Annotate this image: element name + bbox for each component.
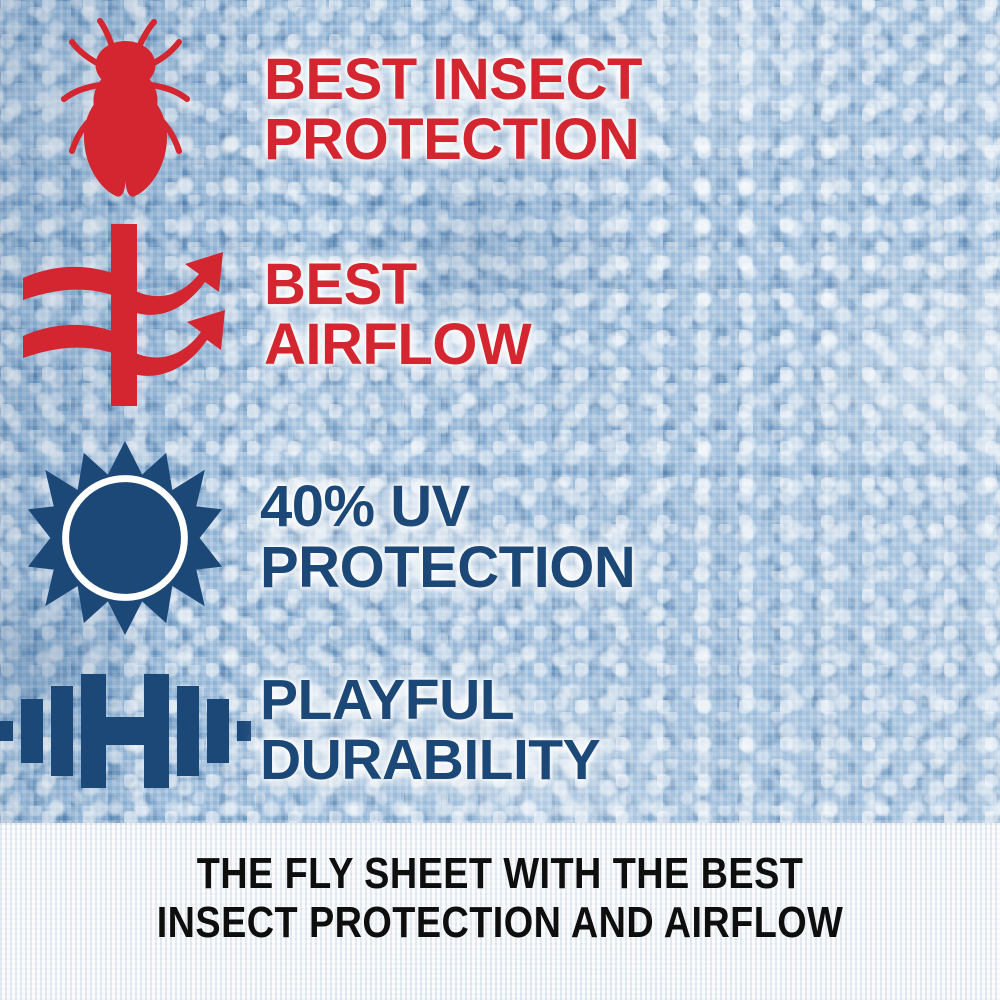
- airflow-arrows-icon: [19, 220, 231, 410]
- feature-label-cell: 40% UV PROTECTION: [250, 477, 1000, 598]
- feature-row-airflow: BEST AIRFLOW: [0, 215, 1000, 415]
- feature-label-cell: BEST AIRFLOW: [250, 255, 1000, 376]
- feature-label-durability: PLAYFUL DURABILITY: [260, 671, 1000, 790]
- feature-label-insect-protection: BEST INSECT PROTECTION: [264, 50, 1000, 171]
- feature-label-airflow: BEST AIRFLOW: [264, 255, 1000, 376]
- feature-label-uv-protection: 40% UV PROTECTION: [260, 477, 1000, 598]
- feature-list: BEST INSECT PROTECTION: [0, 0, 1000, 823]
- feature-row-insect-protection: BEST INSECT PROTECTION: [0, 10, 1000, 210]
- feature-icon-cell: [0, 10, 250, 210]
- caption-band: THE FLY SHEET WITH THE BEST INSECT PROTE…: [0, 823, 1000, 1000]
- dumbbell-icon: [0, 668, 253, 794]
- feature-row-durability: PLAYFUL DURABILITY: [0, 648, 1000, 813]
- fly-icon: [50, 15, 200, 205]
- feature-icon-cell: [0, 430, 250, 645]
- feature-row-uv-protection: 40% UV PROTECTION: [0, 430, 1000, 645]
- feature-icon-cell: [0, 648, 250, 813]
- sun-burst-icon: [26, 439, 224, 637]
- infographic-canvas: BEST INSECT PROTECTION: [0, 0, 1000, 1000]
- feature-icon-cell: [0, 215, 250, 415]
- feature-label-cell: PLAYFUL DURABILITY: [250, 671, 1000, 790]
- caption-headline: THE FLY SHEET WITH THE BEST INSECT PROTE…: [70, 823, 930, 948]
- feature-label-cell: BEST INSECT PROTECTION: [250, 50, 1000, 171]
